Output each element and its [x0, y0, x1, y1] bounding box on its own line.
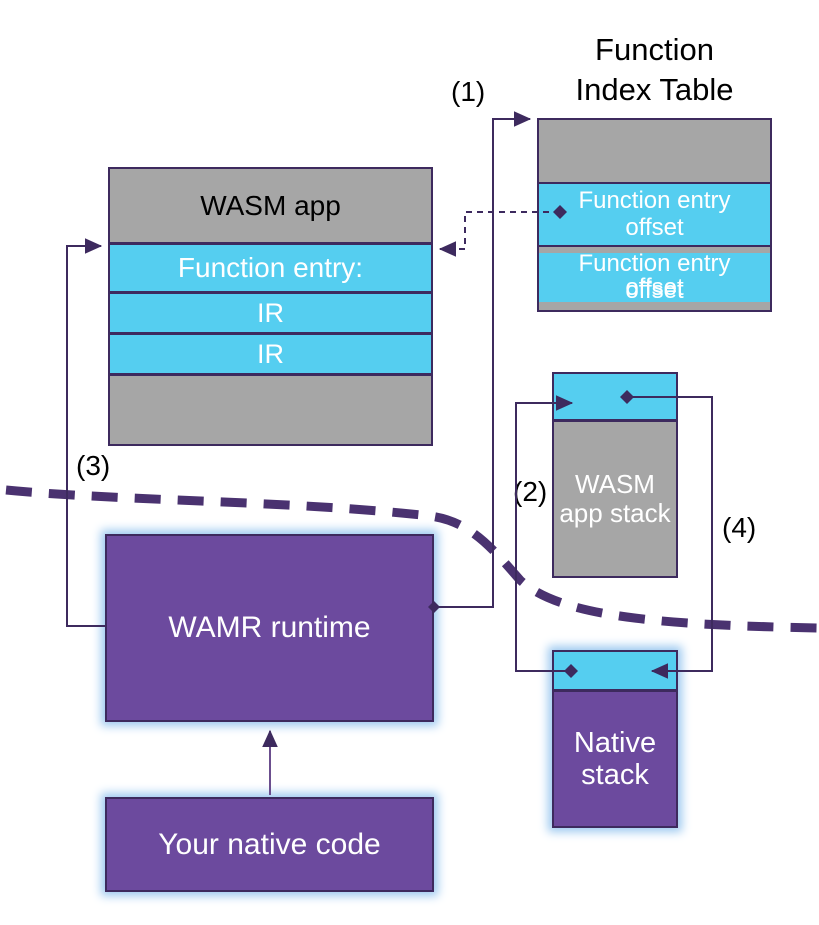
fit-entry-cell-1: Function entry offset [539, 182, 770, 247]
wasm-app-header-cell: WASM app [108, 167, 433, 244]
connector-3-runtime-to-wasm-app [67, 246, 105, 626]
step-label-1: (1) [451, 76, 485, 108]
step-label-4: (4) [722, 512, 756, 544]
title-line-2: Index Table [537, 70, 772, 110]
fit-entry-2-overflow-label: offset [537, 274, 772, 302]
native-stack-top-cell [552, 650, 678, 691]
native-stack-line-1: Native [574, 727, 656, 759]
fit-gray-bottom-strip [539, 302, 770, 310]
fit-gray-top-cell [539, 120, 770, 182]
wasm-app-footer-cell [108, 374, 433, 446]
wasm-app-block: WASM app Function entry: IR IR [108, 167, 433, 446]
wasm-app-stack-top-cell [552, 372, 678, 421]
function-entry-label: Function entry: [178, 252, 363, 283]
fit-entry-1-line-2: offset [625, 215, 683, 242]
wamr-runtime-block: WAMR runtime [105, 534, 434, 722]
wasm-app-ir-cell-2: IR [108, 333, 433, 375]
native-stack-block: Native stack [552, 650, 678, 828]
native-stack-body-cell: Native stack [552, 690, 678, 828]
wamr-runtime-label: WAMR runtime [168, 611, 370, 645]
ir-label-2: IR [257, 339, 284, 369]
wasm-app-ir-cell-1: IR [108, 292, 433, 334]
wasm-app-header-label: WASM app [200, 190, 341, 221]
title-line-1: Function [537, 30, 772, 70]
function-index-table-title: Function Index Table [537, 30, 772, 109]
connector-1-runtime-to-index-table [434, 119, 530, 607]
ir-label-1: IR [257, 298, 284, 328]
fit-entry-1-line-1: Function entry [578, 188, 730, 215]
diagram-canvas: Function Index Table (1) (2) (3) (4) WAS… [0, 0, 819, 925]
wasm-app-stack-block: WASM app stack [552, 372, 678, 578]
step-label-2: (2) [513, 476, 547, 508]
native-code-block: Your native code [105, 797, 434, 892]
wasm-app-function-entry-cell: Function entry: [108, 243, 433, 293]
wasm-app-stack-body-cell: WASM app stack [552, 420, 678, 578]
native-code-label: Your native code [158, 828, 380, 862]
step-label-3: (3) [76, 450, 110, 482]
native-stack-line-2: stack [581, 759, 649, 791]
wasm-app-stack-line-2: app stack [559, 499, 670, 528]
wasm-app-stack-line-1: WASM [575, 470, 655, 499]
